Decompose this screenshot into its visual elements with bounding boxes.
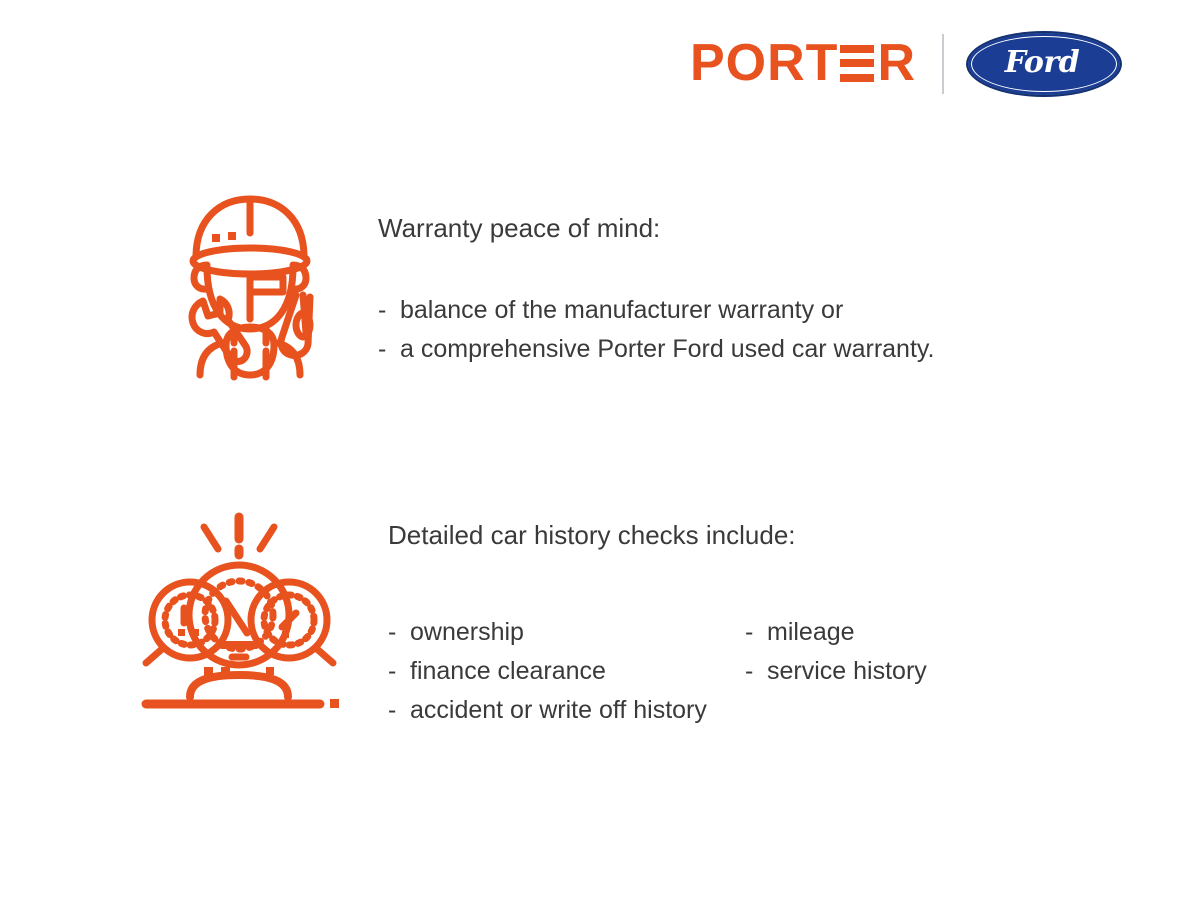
section-warranty: Warranty peace of mind: - balance of the… <box>150 185 935 385</box>
dashboard-gauges-icon <box>132 505 347 710</box>
bullet-label: service history <box>767 652 927 691</box>
warranty-heading: Warranty peace of mind: <box>378 213 935 244</box>
list-item: - balance of the manufacturer warranty o… <box>378 291 935 330</box>
bullet-label: balance of the manufacturer warranty or <box>400 291 843 330</box>
bullet-label: ownership <box>410 613 524 652</box>
porter-stylized-e-letter <box>840 45 874 82</box>
logo-divider <box>942 34 944 94</box>
bullet-dash: - <box>745 613 767 652</box>
warranty-bullet-list: - balance of the manufacturer warranty o… <box>378 291 935 369</box>
bullet-cell-left: - finance clearance <box>388 652 745 691</box>
bullet-dash: - <box>388 613 410 652</box>
ford-oval-logo: Ford <box>966 31 1122 97</box>
list-item: - a comprehensive Porter Ford used car w… <box>378 330 935 369</box>
porter-wordmark: PORT R <box>690 37 916 91</box>
bullet-label: mileage <box>767 613 855 652</box>
list-item: - ownership - mileage <box>388 613 927 652</box>
bullet-cell-left: - accident or write off history <box>388 691 745 730</box>
bullet-label: a comprehensive Porter Ford used car war… <box>400 330 935 369</box>
car-history-bullet-grid: - ownership - mileage - finance clearanc… <box>388 613 927 729</box>
warranty-text-block: Warranty peace of mind: - balance of the… <box>378 185 935 369</box>
porter-wordmark-text-a: PORT <box>690 37 838 89</box>
bullet-dash: - <box>378 291 400 330</box>
header: PORT R Ford <box>0 0 1200 140</box>
car-history-heading: Detailed car history checks include: <box>388 520 927 551</box>
section-car-history: Detailed car history checks include: - o… <box>132 505 927 729</box>
bullet-label: finance clearance <box>410 652 606 691</box>
bullet-cell-left: - ownership <box>388 613 745 652</box>
porter-wordmark-text-b: R <box>877 37 916 89</box>
ford-logo-text: Ford <box>1005 48 1079 78</box>
bullet-dash: - <box>378 330 400 369</box>
bullet-cell-right: - mileage <box>745 613 855 652</box>
bullet-dash: - <box>388 652 410 691</box>
brand-logo-lockup: PORT R Ford <box>690 28 1122 100</box>
bullet-label: accident or write off history <box>410 691 707 730</box>
mechanic-icon <box>150 185 350 385</box>
list-item: - accident or write off history <box>388 691 927 730</box>
list-item: - finance clearance - service history <box>388 652 927 691</box>
car-history-text-block: Detailed car history checks include: - o… <box>388 505 927 729</box>
bullet-dash: - <box>388 691 410 730</box>
bullet-dash: - <box>745 652 767 691</box>
bullet-cell-right: - service history <box>745 652 927 691</box>
